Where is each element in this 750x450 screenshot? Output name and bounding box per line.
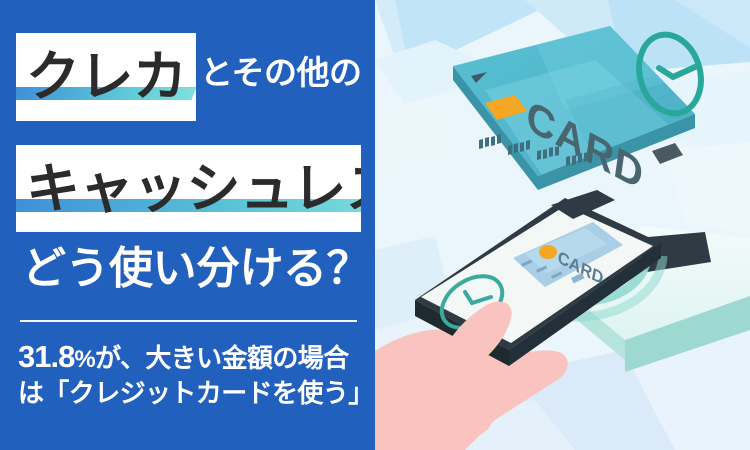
headline-word-cashless: キャッシュレス bbox=[16, 159, 361, 219]
statistic-line-2: は「クレジットカードを使う」 bbox=[18, 377, 363, 410]
illustration-panel: CARD bbox=[375, 0, 750, 450]
headline-panel: クレカ とその他の キャッシュレス どう使い分ける？ 31.8%が、大きい金額の… bbox=[0, 0, 375, 450]
statistic-caption: 31.8%が、大きい金額の場合 は「クレジットカードを使う」 bbox=[18, 337, 363, 410]
statistic-percent-number: 31.8 bbox=[18, 339, 74, 374]
statistic-line-1: 31.8%が、大きい金額の場合 bbox=[18, 337, 363, 377]
highlight-inner: クレカ bbox=[16, 50, 187, 104]
infographic-banner: クレカ とその他の キャッシュレス どう使い分ける？ 31.8%が、大きい金額の… bbox=[0, 0, 750, 450]
highlight-inner: キャッシュレス bbox=[16, 162, 361, 216]
headline-line1-tail: とその他の bbox=[200, 56, 362, 89]
highlight-box-kureka: クレカ bbox=[16, 33, 196, 121]
illustration-canvas: CARD bbox=[375, 0, 750, 450]
statistic-percent-sign: % bbox=[74, 346, 95, 373]
highlight-box-cashless: キャッシュレス bbox=[16, 145, 361, 232]
headline-word-kureka: クレカ bbox=[16, 47, 187, 107]
screen-card-chip bbox=[539, 245, 557, 259]
statistic-line-1-rest: が、大きい金額の場合 bbox=[95, 343, 348, 373]
headline-line3: どう使い分ける？ bbox=[22, 247, 370, 291]
divider-rule bbox=[20, 320, 357, 322]
